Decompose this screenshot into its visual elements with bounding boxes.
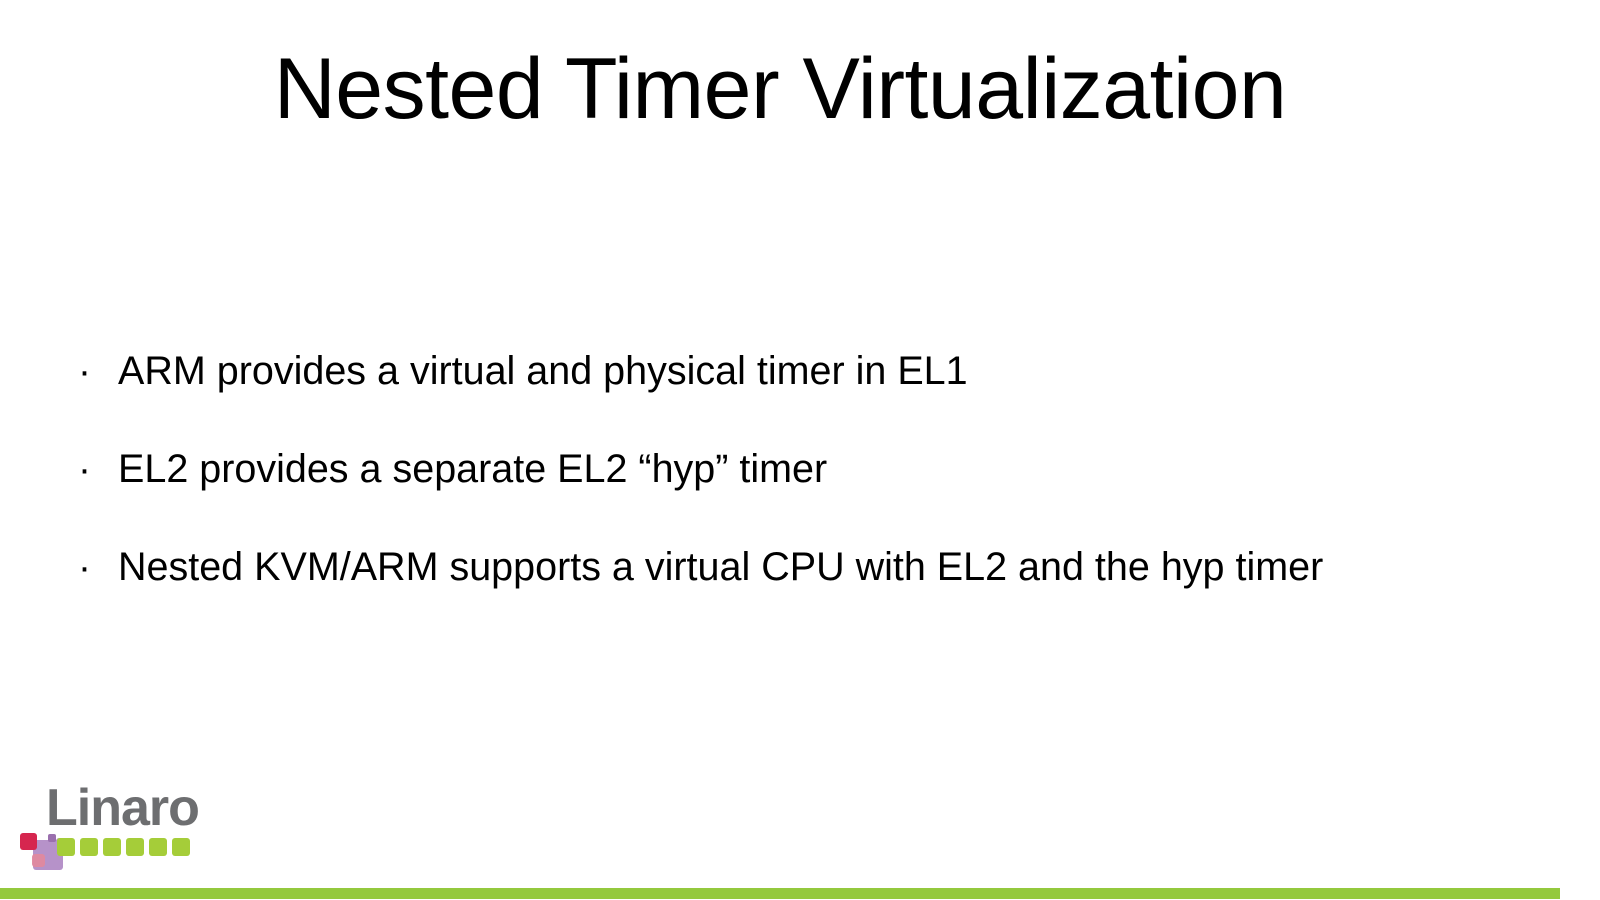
list-item: · ARM provides a virtual and physical ti… bbox=[70, 352, 1520, 450]
bullet-text: Nested KVM/ARM supports a virtual CPU wi… bbox=[118, 548, 1520, 588]
bullet-icon: · bbox=[70, 548, 118, 587]
green-square-icon bbox=[149, 838, 167, 856]
pink-square-small-icon bbox=[32, 854, 45, 867]
list-item: · Nested KVM/ARM supports a virtual CPU … bbox=[70, 548, 1520, 646]
crimson-square-icon bbox=[20, 833, 37, 850]
footer-accent-bar bbox=[0, 888, 1560, 899]
logo-squares-group bbox=[18, 782, 218, 872]
linaro-logo: Linaro bbox=[18, 782, 218, 872]
bullet-list: · ARM provides a virtual and physical ti… bbox=[70, 352, 1520, 646]
green-square-icon bbox=[103, 838, 121, 856]
green-square-icon bbox=[172, 838, 190, 856]
list-item: · EL2 provides a separate EL2 “hyp” time… bbox=[70, 450, 1520, 548]
green-square-icon bbox=[57, 838, 75, 856]
bullet-text: EL2 provides a separate EL2 “hyp” timer bbox=[118, 450, 1520, 490]
purple-dot-icon bbox=[48, 834, 56, 842]
green-square-icon bbox=[126, 838, 144, 856]
green-square-icon bbox=[80, 838, 98, 856]
bullet-icon: · bbox=[70, 352, 118, 391]
bullet-text: ARM provides a virtual and physical time… bbox=[118, 352, 1520, 392]
bullet-icon: · bbox=[70, 450, 118, 489]
page-title: Nested Timer Virtualization bbox=[0, 46, 1560, 132]
slide-canvas: Nested Timer Virtualization · ARM provid… bbox=[0, 0, 1600, 900]
